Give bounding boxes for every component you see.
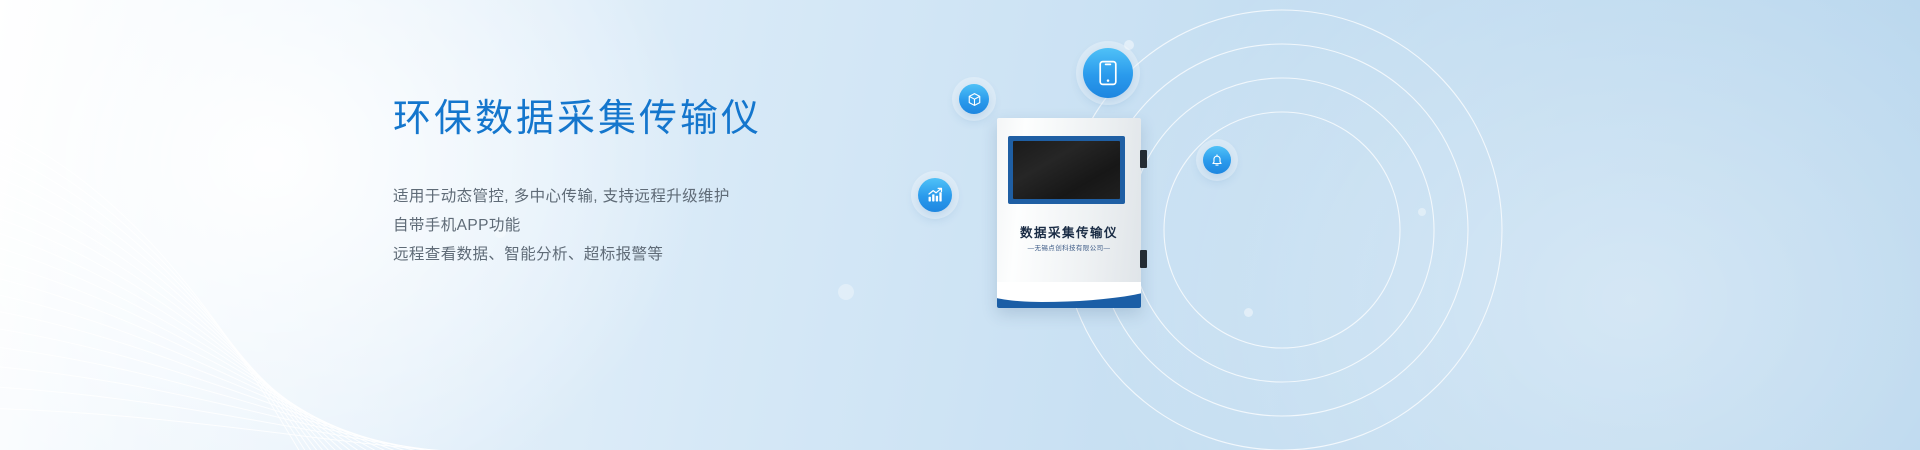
cube-icon[interactable] [959, 84, 989, 114]
product-device-image: 数据采集传输仪 —无锡点创科技有限公司— [997, 118, 1141, 308]
device-label-company: —无锡点创科技有限公司— [997, 242, 1141, 252]
hero-subtitle: 适用于动态管控, 多中心传输, 支持远程升级维护 自带手机APP功能 远程查看数… [393, 182, 953, 269]
subtitle-line-1: 适用于动态管控, 多中心传输, 支持远程升级维护 [393, 182, 953, 211]
device-screen [1013, 141, 1120, 199]
hero-copy: 环保数据采集传输仪 适用于动态管控, 多中心传输, 支持远程升级维护 自带手机A… [393, 96, 953, 269]
phone-icon[interactable] [1083, 48, 1133, 98]
device-hinge-bottom [1140, 250, 1147, 268]
device-label-title: 数据采集传输仪 [997, 222, 1141, 241]
subtitle-line-2: 自带手机APP功能 [393, 211, 953, 240]
subtitle-line-3: 远程查看数据、智能分析、超标报警等 [393, 240, 953, 269]
alarm-icon[interactable] [1203, 146, 1231, 174]
product-hero-banner: 环保数据采集传输仪 适用于动态管控, 多中心传输, 支持远程升级维护 自带手机A… [0, 0, 1920, 450]
chart-icon[interactable] [918, 178, 952, 212]
device-base-band [997, 282, 1141, 308]
bokeh-dot [838, 284, 854, 300]
page-title: 环保数据采集传输仪 [393, 96, 953, 144]
device-screen-bezel [1008, 136, 1125, 204]
device-hinge-top [1140, 150, 1147, 168]
